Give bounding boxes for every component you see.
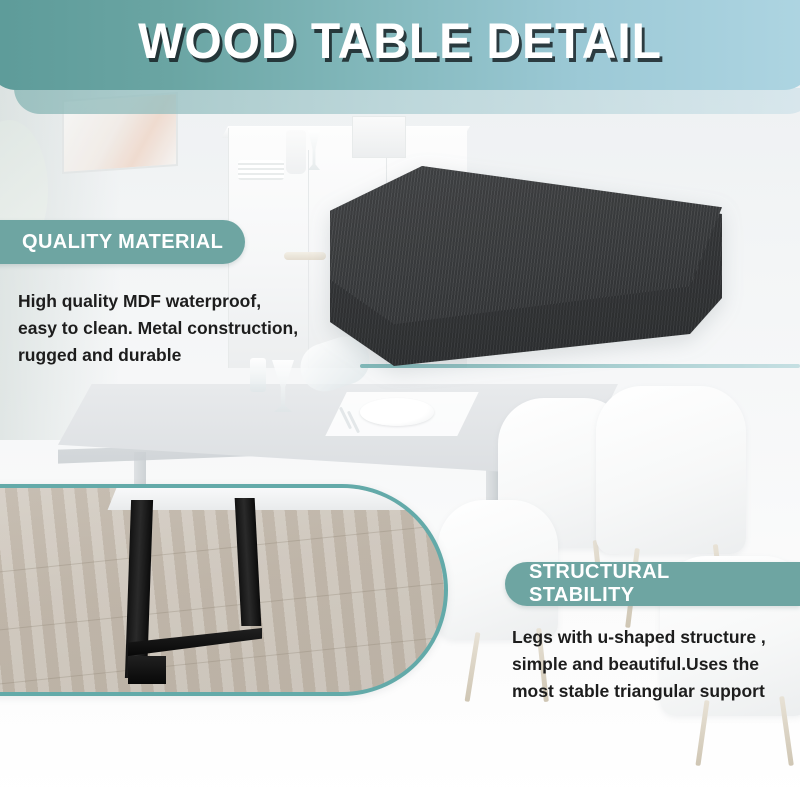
badge-quality-material: QUALITY MATERIAL [0, 220, 245, 264]
header-accent-band [14, 88, 800, 114]
floor-plank-seam [0, 524, 448, 573]
tabletop-product-image [322, 166, 722, 366]
box-decor [352, 116, 406, 158]
product-infographic: WOOD TABLE DETAIL QUALITY MATERIAL High … [0, 0, 800, 800]
dining-chair [596, 386, 746, 554]
table-underside [108, 488, 447, 510]
structural-stability-description: Legs with u-shaped structure , simple an… [512, 624, 800, 705]
page-title: WOOD TABLE DETAIL [16, 12, 784, 70]
badge-structural-stability: STRUCTURAL STABILITY [505, 562, 800, 606]
plate-stack-decor [238, 160, 284, 180]
table-leg-inset-photo [0, 484, 448, 696]
table-leg-upright [235, 498, 262, 626]
dinner-plate [360, 398, 434, 426]
badge-quality-material-label: QUALITY MATERIAL [22, 231, 223, 254]
quality-material-description: High quality MDF waterproof, easy to cle… [18, 288, 328, 369]
badge-structural-stability-label: STRUCTURAL STABILITY [529, 561, 760, 607]
chair-leg [465, 632, 481, 702]
table-leg-foot-end [128, 656, 166, 684]
sideboard-handle [284, 252, 326, 260]
jar-decor [286, 130, 306, 174]
floor-plank-seam [0, 582, 448, 631]
